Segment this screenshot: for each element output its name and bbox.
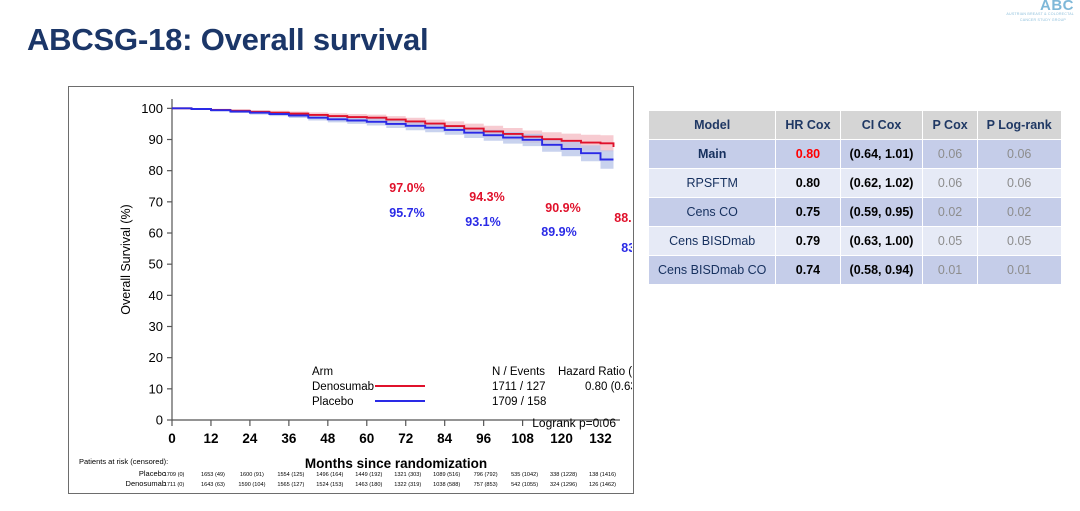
at-risk-value: 757 (853) [474,482,498,488]
x-tick-label: 96 [476,431,492,446]
column-header-p-cox: P Cox [923,111,977,140]
cell-model: RPSFTM [649,169,776,198]
column-header-model: Model [649,111,776,140]
table-row: Cens BISDmab CO0.74(0.58, 0.94)0.010.01 [649,256,1062,285]
legend-header-arm: Arm [312,366,333,378]
at-risk-value: 1449 (192) [355,472,382,478]
legend-arm-label: Denosumab [312,381,374,393]
at-risk-value: 1554 (125) [277,472,304,478]
at-risk-value: 535 (1042) [511,472,538,478]
legend-header-hr: Hazard Ratio (95% CI) [558,366,632,378]
curve-label: 83.6% [621,241,632,255]
results-table: Model HR Cox CI Cox P Cox P Log-rank Mai… [648,110,1062,285]
table-row: Cens BISDmab0.79(0.63, 1.00)0.050.05 [649,227,1062,256]
at-risk-value: 138 (1416) [589,472,616,478]
curve-label: 97.0% [389,181,424,195]
kaplan-meier-plot: 0102030405060708090100012243648607284961… [69,87,632,492]
y-tick-label: 20 [149,350,163,365]
curve-label: 88.8% [614,211,632,225]
cell-p-logrank: 0.06 [977,169,1061,198]
y-tick-label: 50 [149,257,163,272]
cell-p-cox: 0.02 [923,198,977,227]
cell-ci-cox: (0.58, 0.94) [840,256,923,285]
cell-p-cox: 0.06 [923,169,977,198]
at-risk-value: 1565 (127) [277,482,304,488]
legend-hazard-ratio: 0.80 (0.63 to 1.01) [585,381,632,393]
at-risk-value: 338 (1228) [550,472,577,478]
cell-model: Cens BISDmab CO [649,256,776,285]
legend-header-n: N / Events [492,366,545,378]
page-title: ABCSG-18: Overall survival [27,22,428,58]
at-risk-value: 796 (792) [474,472,498,478]
at-risk-value: 1524 (153) [316,482,343,488]
at-risk-value: 1321 (303) [394,472,421,478]
cell-hr-cox: 0.80 [776,169,840,198]
cell-ci-cox: (0.62, 1.02) [840,169,923,198]
x-tick-label: 132 [589,431,612,446]
x-tick-label: 120 [550,431,573,446]
table-header-row: Model HR Cox CI Cox P Cox P Log-rank [649,111,1062,140]
y-tick-label: 0 [156,413,163,428]
x-tick-label: 0 [168,431,176,446]
cell-p-cox: 0.06 [923,140,977,169]
logo-subtitle-line2: CANCER STUDY GROUP [996,17,1080,23]
at-risk-row-label: Denosumab [126,479,166,488]
legend-n-events: 1709 / 158 [492,396,546,408]
cell-ci-cox: (0.64, 1.01) [840,140,923,169]
cell-hr-cox: 0.75 [776,198,840,227]
at-risk-value: 1653 (49) [201,472,225,478]
curve-label: 95.7% [389,206,424,220]
at-risk-value: 1643 (63) [201,482,225,488]
at-risk-value: 1463 (180) [355,482,382,488]
x-tick-label: 72 [398,431,413,446]
logrank-pvalue: Logrank p=0.06 [532,416,616,430]
cell-ci-cox: (0.59, 0.95) [840,198,923,227]
cell-hr-cox: 0.74 [776,256,840,285]
at-risk-value: 1711 (0) [164,482,185,488]
x-tick-label: 12 [203,431,218,446]
slide-canvas: ABC AUSTRIAN BREAST & COLORECTAL CANCER … [0,0,1080,511]
cell-hr-cox: 0.80 [776,140,840,169]
table-row: RPSFTM0.80(0.62, 1.02)0.060.06 [649,169,1062,198]
legend-arm-label: Placebo [312,396,354,408]
y-tick-label: 90 [149,132,163,147]
x-tick-label: 48 [320,431,336,446]
legend-n-events: 1711 / 127 [492,381,546,393]
curve-label: 90.9% [545,201,580,215]
survival-chart-panel: 0102030405060708090100012243648607284961… [68,86,634,494]
cell-p-logrank: 0.05 [977,227,1061,256]
cell-p-cox: 0.05 [923,227,977,256]
curve-label: 93.1% [465,215,500,229]
table-row: Cens CO0.75(0.59, 0.95)0.020.02 [649,198,1062,227]
at-risk-value: 1496 (164) [316,472,343,478]
cell-p-cox: 0.01 [923,256,977,285]
curve-label: 94.3% [469,190,504,204]
cell-model: Cens CO [649,198,776,227]
y-tick-label: 10 [149,381,163,396]
y-tick-label: 80 [149,163,163,178]
y-tick-label: 60 [149,226,163,241]
column-header-p-logrank: P Log-rank [977,111,1061,140]
x-tick-label: 36 [281,431,297,446]
at-risk-value: 324 (1296) [550,482,577,488]
x-axis-label: Months since randomization [305,456,487,471]
cell-p-logrank: 0.02 [977,198,1061,227]
x-tick-label: 108 [511,431,534,446]
at-risk-value: 542 (1055) [511,482,538,488]
column-header-ci-cox: CI Cox [840,111,923,140]
y-tick-label: 70 [149,194,163,209]
at-risk-value: 1038 (588) [433,482,460,488]
at-risk-value: 1600 (91) [240,472,264,478]
cell-p-logrank: 0.01 [977,256,1061,285]
x-tick-label: 60 [359,431,374,446]
y-tick-label: 40 [149,288,163,303]
at-risk-value: 1322 (319) [394,482,421,488]
table-row: Main0.80(0.64, 1.01)0.060.06 [649,140,1062,169]
cell-model: Main [649,140,776,169]
at-risk-value: 1089 (516) [433,472,460,478]
cell-ci-cox: (0.63, 1.00) [840,227,923,256]
y-tick-label: 100 [141,101,163,116]
cell-model: Cens BISDmab [649,227,776,256]
cell-hr-cox: 0.79 [776,227,840,256]
x-tick-label: 84 [437,431,453,446]
curve-label: 89.9% [541,225,576,239]
at-risk-caption: Patients at risk (censored): [79,457,168,466]
logo-wordmark: ABC [996,0,1080,11]
cell-p-logrank: 0.06 [977,140,1061,169]
column-header-hr-cox: HR Cox [776,111,840,140]
abcsg-logo: ABC AUSTRIAN BREAST & COLORECTAL CANCER … [996,0,1080,26]
at-risk-value: 126 (1462) [589,482,616,488]
y-axis-label: Overall Survival (%) [119,204,133,314]
at-risk-row-label: Placebo [139,469,166,478]
y-tick-label: 30 [149,319,163,334]
at-risk-value: 1709 (0) [164,472,185,478]
at-risk-value: 1590 (104) [238,482,265,488]
x-tick-label: 24 [242,431,258,446]
